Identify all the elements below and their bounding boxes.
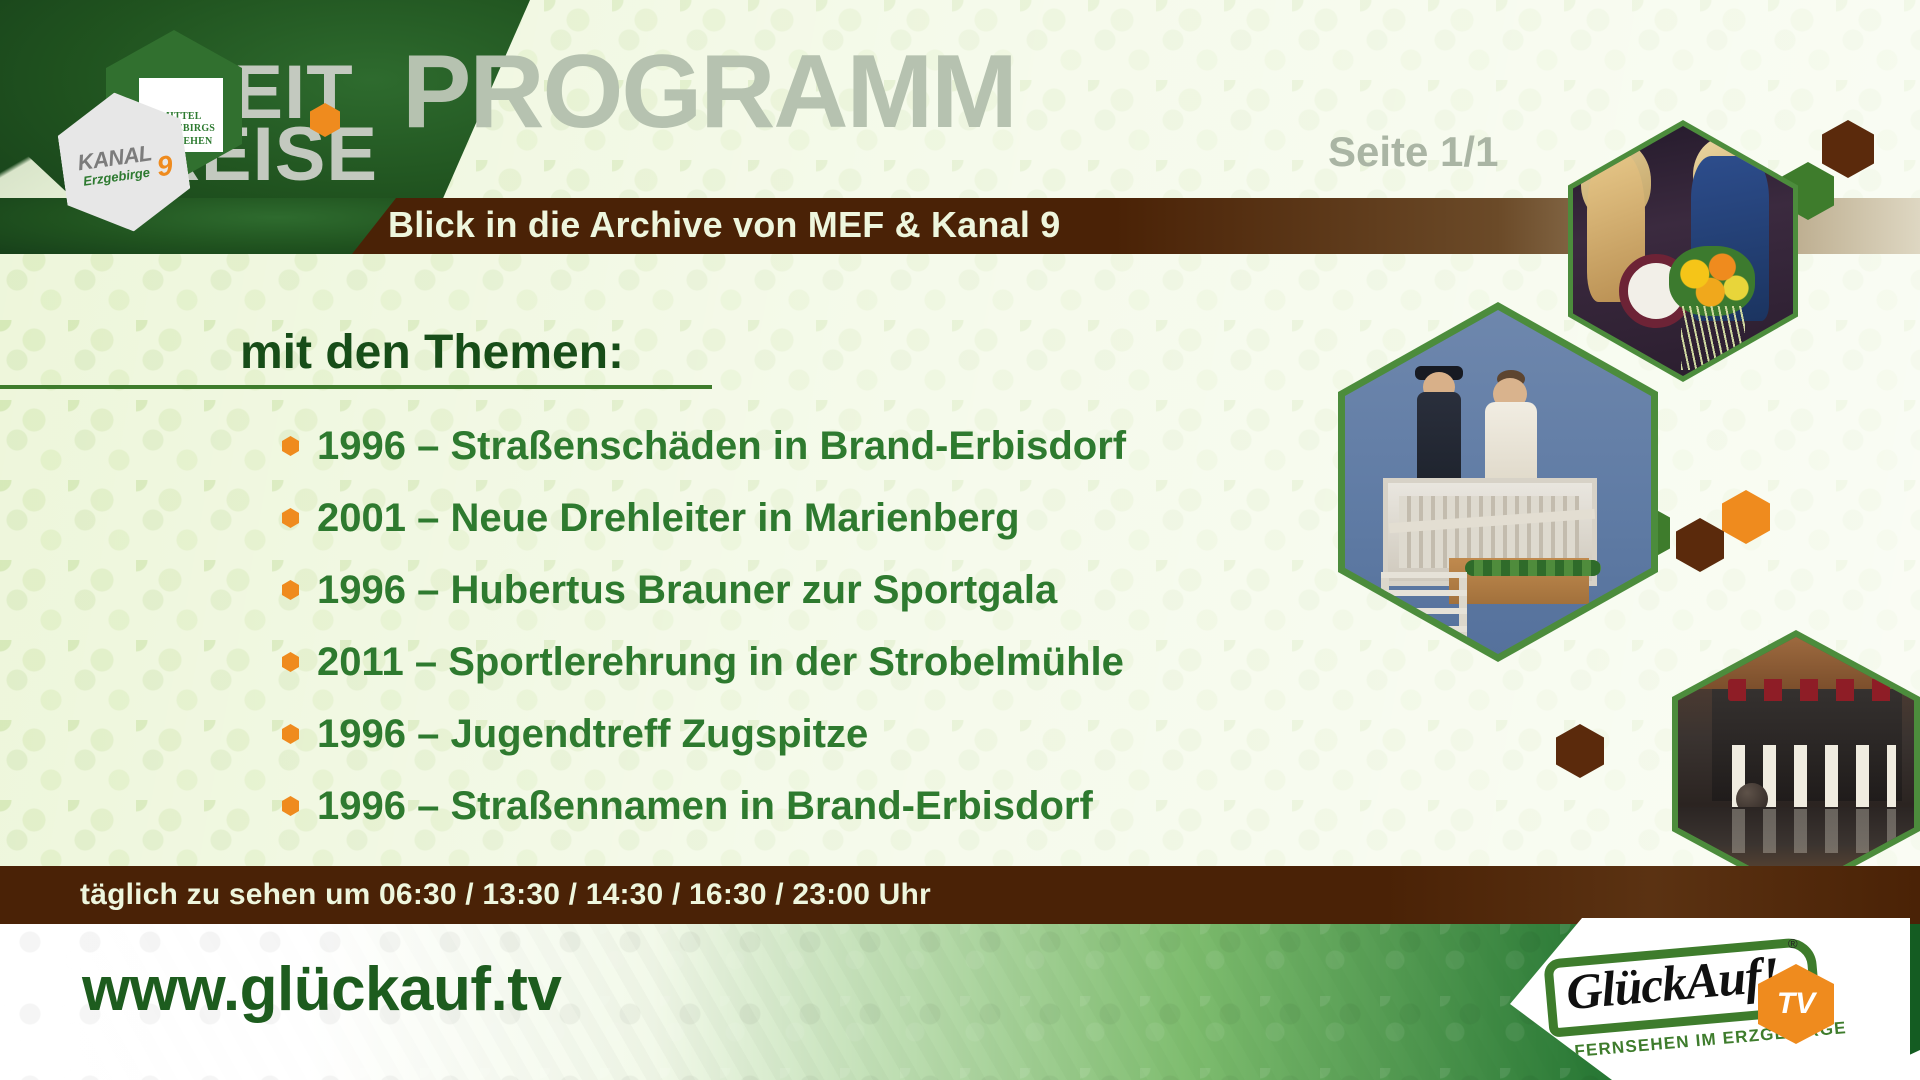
list-item: 1996 – Hubertus Brauner zur Sportgala <box>282 554 1126 626</box>
list-item-label: 1996 – Straßenschäden in Brand-Erbisdorf <box>317 424 1126 469</box>
subtitle-bar-green-overlap <box>0 198 396 254</box>
bullet-hexagon-icon <box>282 436 299 456</box>
broadcast-times-text: täglich zu sehen um 06:30 / 13:30 / 14:3… <box>80 878 931 912</box>
subtitle-text: Blick in die Archive von MEF & Kanal 9 <box>388 204 1060 246</box>
list-item-label: 1996 – Hubertus Brauner zur Sportgala <box>317 568 1057 613</box>
themes-heading: mit den Themen: <box>240 325 624 380</box>
kanal9-logo-number: 9 <box>155 149 175 183</box>
list-item: 1996 – Jugendtreff Zugspitze <box>282 698 1126 770</box>
bullet-hexagon-icon <box>282 508 299 528</box>
registered-trademark-icon: ® <box>1788 936 1798 951</box>
website-url[interactable]: www.glückauf.tv <box>82 954 561 1025</box>
program-slide: PROGRAMM Seite 1/1 ZEIT REISE MITTEL ERZ… <box>0 0 1920 1080</box>
list-item-label: 1996 – Straßennamen in Brand-Erbisdorf <box>317 784 1093 829</box>
bullet-hexagon-icon <box>282 724 299 744</box>
bullet-hexagon-icon <box>282 796 299 816</box>
topic-list: 1996 – Straßenschäden in Brand-Erbisdorf… <box>282 410 1126 842</box>
bullet-hexagon-icon <box>282 580 299 600</box>
list-item: 1996 – Straßenschäden in Brand-Erbisdorf <box>282 410 1126 482</box>
page-indicator: Seite 1/1 <box>1328 128 1498 176</box>
page-title: PROGRAMM <box>402 40 1016 144</box>
list-item-label: 2001 – Neue Drehleiter in Marienberg <box>317 496 1020 541</box>
themes-divider <box>0 385 712 389</box>
list-item: 2011 – Sportlerehrung in der Strobelmühl… <box>282 626 1126 698</box>
list-item-label: 2011 – Sportlerehrung in der Strobelmühl… <box>317 640 1124 685</box>
bullet-hexagon-icon <box>282 652 299 672</box>
list-item-label: 1996 – Jugendtreff Zugspitze <box>317 712 868 757</box>
list-item: 2001 – Neue Drehleiter in Marienberg <box>282 482 1126 554</box>
list-item: 1996 – Straßennamen in Brand-Erbisdorf <box>282 770 1126 842</box>
